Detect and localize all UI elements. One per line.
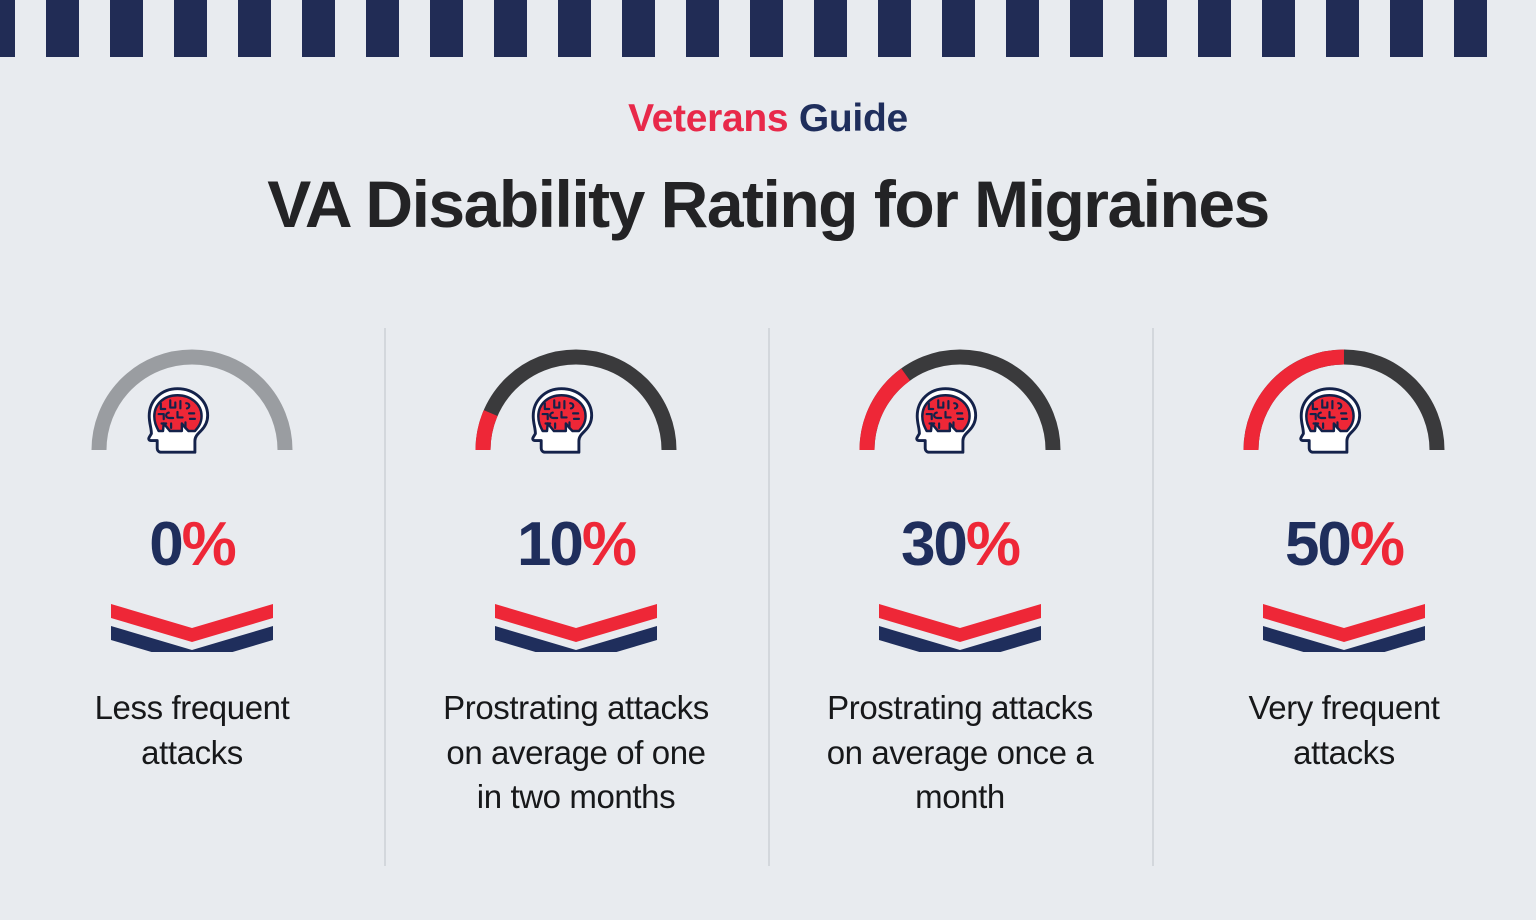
rating-number: 10: [517, 510, 582, 579]
page-title: VA Disability Rating for Migraines: [0, 169, 1536, 240]
chevron-down-icon: [495, 602, 657, 652]
stripe: [46, 0, 79, 57]
gauge-svg: [1229, 338, 1459, 510]
brand-name-veterans: Veterans: [628, 97, 788, 140]
stripe: [750, 0, 783, 57]
stripe: [1454, 0, 1487, 57]
chevron-down-icon: [111, 602, 273, 652]
head-brain-icon: [917, 389, 976, 453]
gauge-0: [77, 338, 307, 510]
stripe: [1390, 0, 1423, 57]
chevron-divider-3: [1263, 602, 1425, 652]
stripe: [0, 0, 15, 57]
head-brain-icon: [149, 389, 208, 453]
rating-column: 50% Very frequent attacks: [1152, 328, 1536, 868]
gauge-svg: [461, 338, 691, 510]
stripe: [686, 0, 719, 57]
stripe: [558, 0, 591, 57]
rating-percent-symbol: %: [582, 510, 635, 579]
head-brain-icon: [533, 389, 592, 453]
stripe: [1326, 0, 1359, 57]
rating-caption-2: Prostrating attacks on average once a mo…: [815, 686, 1105, 820]
stripe: [1006, 0, 1039, 57]
brand-name-guide: Guide: [799, 97, 908, 140]
gauge-1: [461, 338, 691, 510]
stripe: [174, 0, 207, 57]
rating-column: 10% Prostrating attacks on average of on…: [384, 328, 768, 868]
stripe: [366, 0, 399, 57]
stripe: [1070, 0, 1103, 57]
chevron-divider-0: [111, 602, 273, 652]
gauge-2: [845, 338, 1075, 510]
rating-caption-3: Very frequent attacks: [1199, 686, 1489, 775]
rating-value-1: 10%: [517, 514, 635, 576]
stripe: [1198, 0, 1231, 57]
stripe: [878, 0, 911, 57]
gauge-svg: [845, 338, 1075, 510]
rating-percent-symbol: %: [182, 510, 235, 579]
head-brain-icon: [1301, 389, 1360, 453]
infographic-root: Veterans Guide VA Disability Rating for …: [0, 0, 1536, 920]
stripe: [430, 0, 463, 57]
gauge-svg: [77, 338, 307, 510]
chevron-down-icon: [879, 602, 1041, 652]
gauge-3: [1229, 338, 1459, 510]
stripe: [622, 0, 655, 57]
chevron-divider-2: [879, 602, 1041, 652]
stripe: [494, 0, 527, 57]
stripe: [238, 0, 271, 57]
rating-number: 0: [149, 510, 181, 579]
rating-value-2: 30%: [901, 514, 1019, 576]
chevron-down-icon: [1263, 602, 1425, 652]
rating-percent-symbol: %: [1350, 510, 1403, 579]
rating-number: 50: [1285, 510, 1350, 579]
rating-percent-symbol: %: [966, 510, 1019, 579]
rating-number: 30: [901, 510, 966, 579]
rating-caption-1: Prostrating attacks on average of one in…: [431, 686, 721, 820]
rating-caption-0: Less frequent attacks: [47, 686, 337, 775]
brand-eyebrow: Veterans Guide: [0, 99, 1536, 138]
chevron-divider-1: [495, 602, 657, 652]
rating-value-0: 0%: [149, 514, 235, 576]
rating-column: 30% Prostrating attacks on average once …: [768, 328, 1152, 868]
stripe: [814, 0, 847, 57]
stripe: [302, 0, 335, 57]
rating-column: 0% Less frequent attacks: [0, 328, 384, 868]
stripe: [110, 0, 143, 57]
stripe: [942, 0, 975, 57]
stripe: [1134, 0, 1167, 57]
rating-columns: 0% Less frequent attacks: [0, 328, 1536, 868]
decorative-stripe-band: [0, 0, 1536, 57]
rating-value-3: 50%: [1285, 514, 1403, 576]
stripe: [1262, 0, 1295, 57]
